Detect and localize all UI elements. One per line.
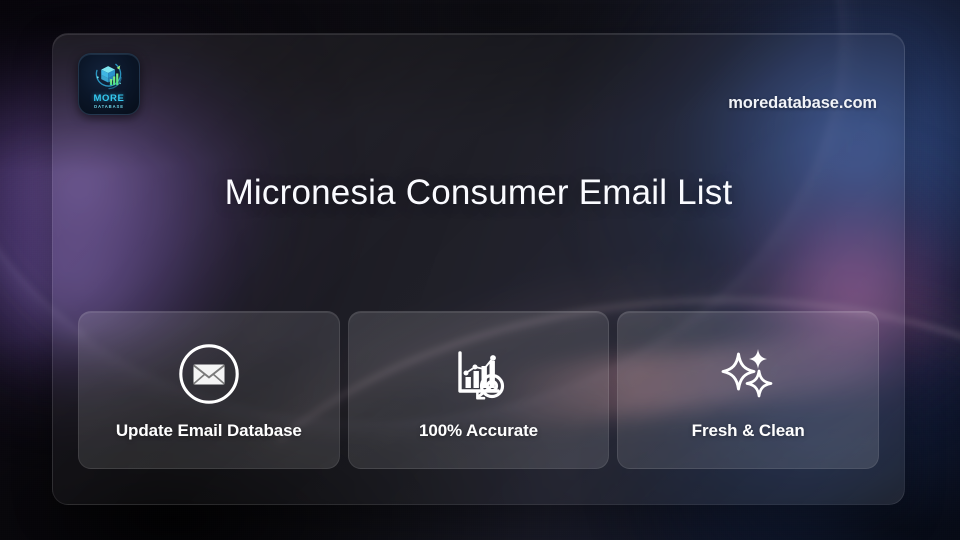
- database-stack-icon: [90, 60, 128, 93]
- site-url[interactable]: moredatabase.com: [728, 94, 877, 113]
- feature-card-update-email-database[interactable]: Update Email Database: [78, 311, 340, 469]
- envelope-circle-icon: [178, 343, 240, 405]
- brand-logo-word: MORE: [94, 94, 125, 104]
- feature-card-icon: [178, 343, 240, 405]
- feature-card-icon: [717, 343, 779, 405]
- brand-logo-subword: DATABASE: [94, 105, 124, 109]
- feature-card-list: Update Email Database: [78, 311, 879, 469]
- brand-logo[interactable]: MORE DATABASE: [78, 53, 140, 115]
- sparkles-icon: [717, 343, 779, 405]
- feature-card-label: Fresh & Clean: [692, 421, 805, 441]
- feature-card-fresh-and-clean[interactable]: Fresh & Clean: [617, 311, 879, 469]
- page-title: Micronesia Consumer Email List: [53, 173, 904, 213]
- feature-card-100-percent-accurate[interactable]: 100% Accurate: [348, 311, 610, 469]
- banner-stage: MORE DATABASE moredatabase.com Micronesi…: [0, 0, 960, 540]
- bar-chart-target-icon: [448, 343, 510, 405]
- glass-panel: MORE DATABASE moredatabase.com Micronesi…: [52, 33, 905, 505]
- feature-card-icon: [448, 343, 510, 405]
- feature-card-label: 100% Accurate: [419, 421, 538, 441]
- feature-card-label: Update Email Database: [116, 421, 302, 441]
